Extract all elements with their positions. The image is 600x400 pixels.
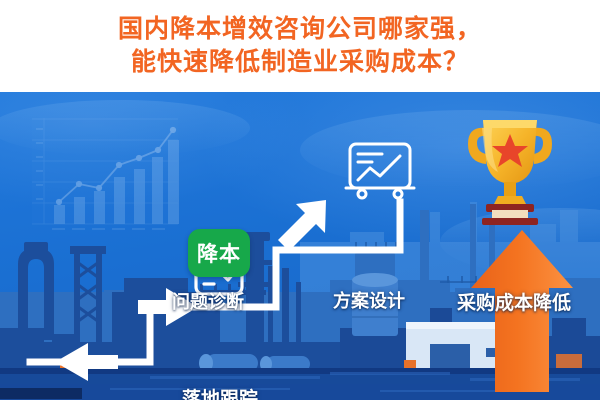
chart-watermark [32,118,179,230]
green-badge: 降本 [188,229,250,277]
title-line-2: 能快速降低制造业采购成本？ [131,48,469,78]
green-badge-label: 降本 [197,238,241,268]
hero-banner: 降本 需求梳理 落地跟踪 问题诊断 方案设计 采购成本降低 [0,92,600,400]
step-label-track: 落地跟踪 [182,384,258,400]
step-label-design: 方案设计 [333,287,405,313]
poster-canvas: 国内降本增效咨询公司哪家强， 能快速降低制造业采购成本？ [0,0,600,400]
title-line-1: 国内降本增效咨询公司哪家强， [118,15,482,45]
page-title: 国内降本增效咨询公司哪家强， 能快速降低制造业采购成本？ [0,0,600,92]
step-label-diagnose: 问题诊断 [172,288,244,314]
step-label-result: 采购成本降低 [457,288,571,315]
banner-illustration [0,92,600,400]
